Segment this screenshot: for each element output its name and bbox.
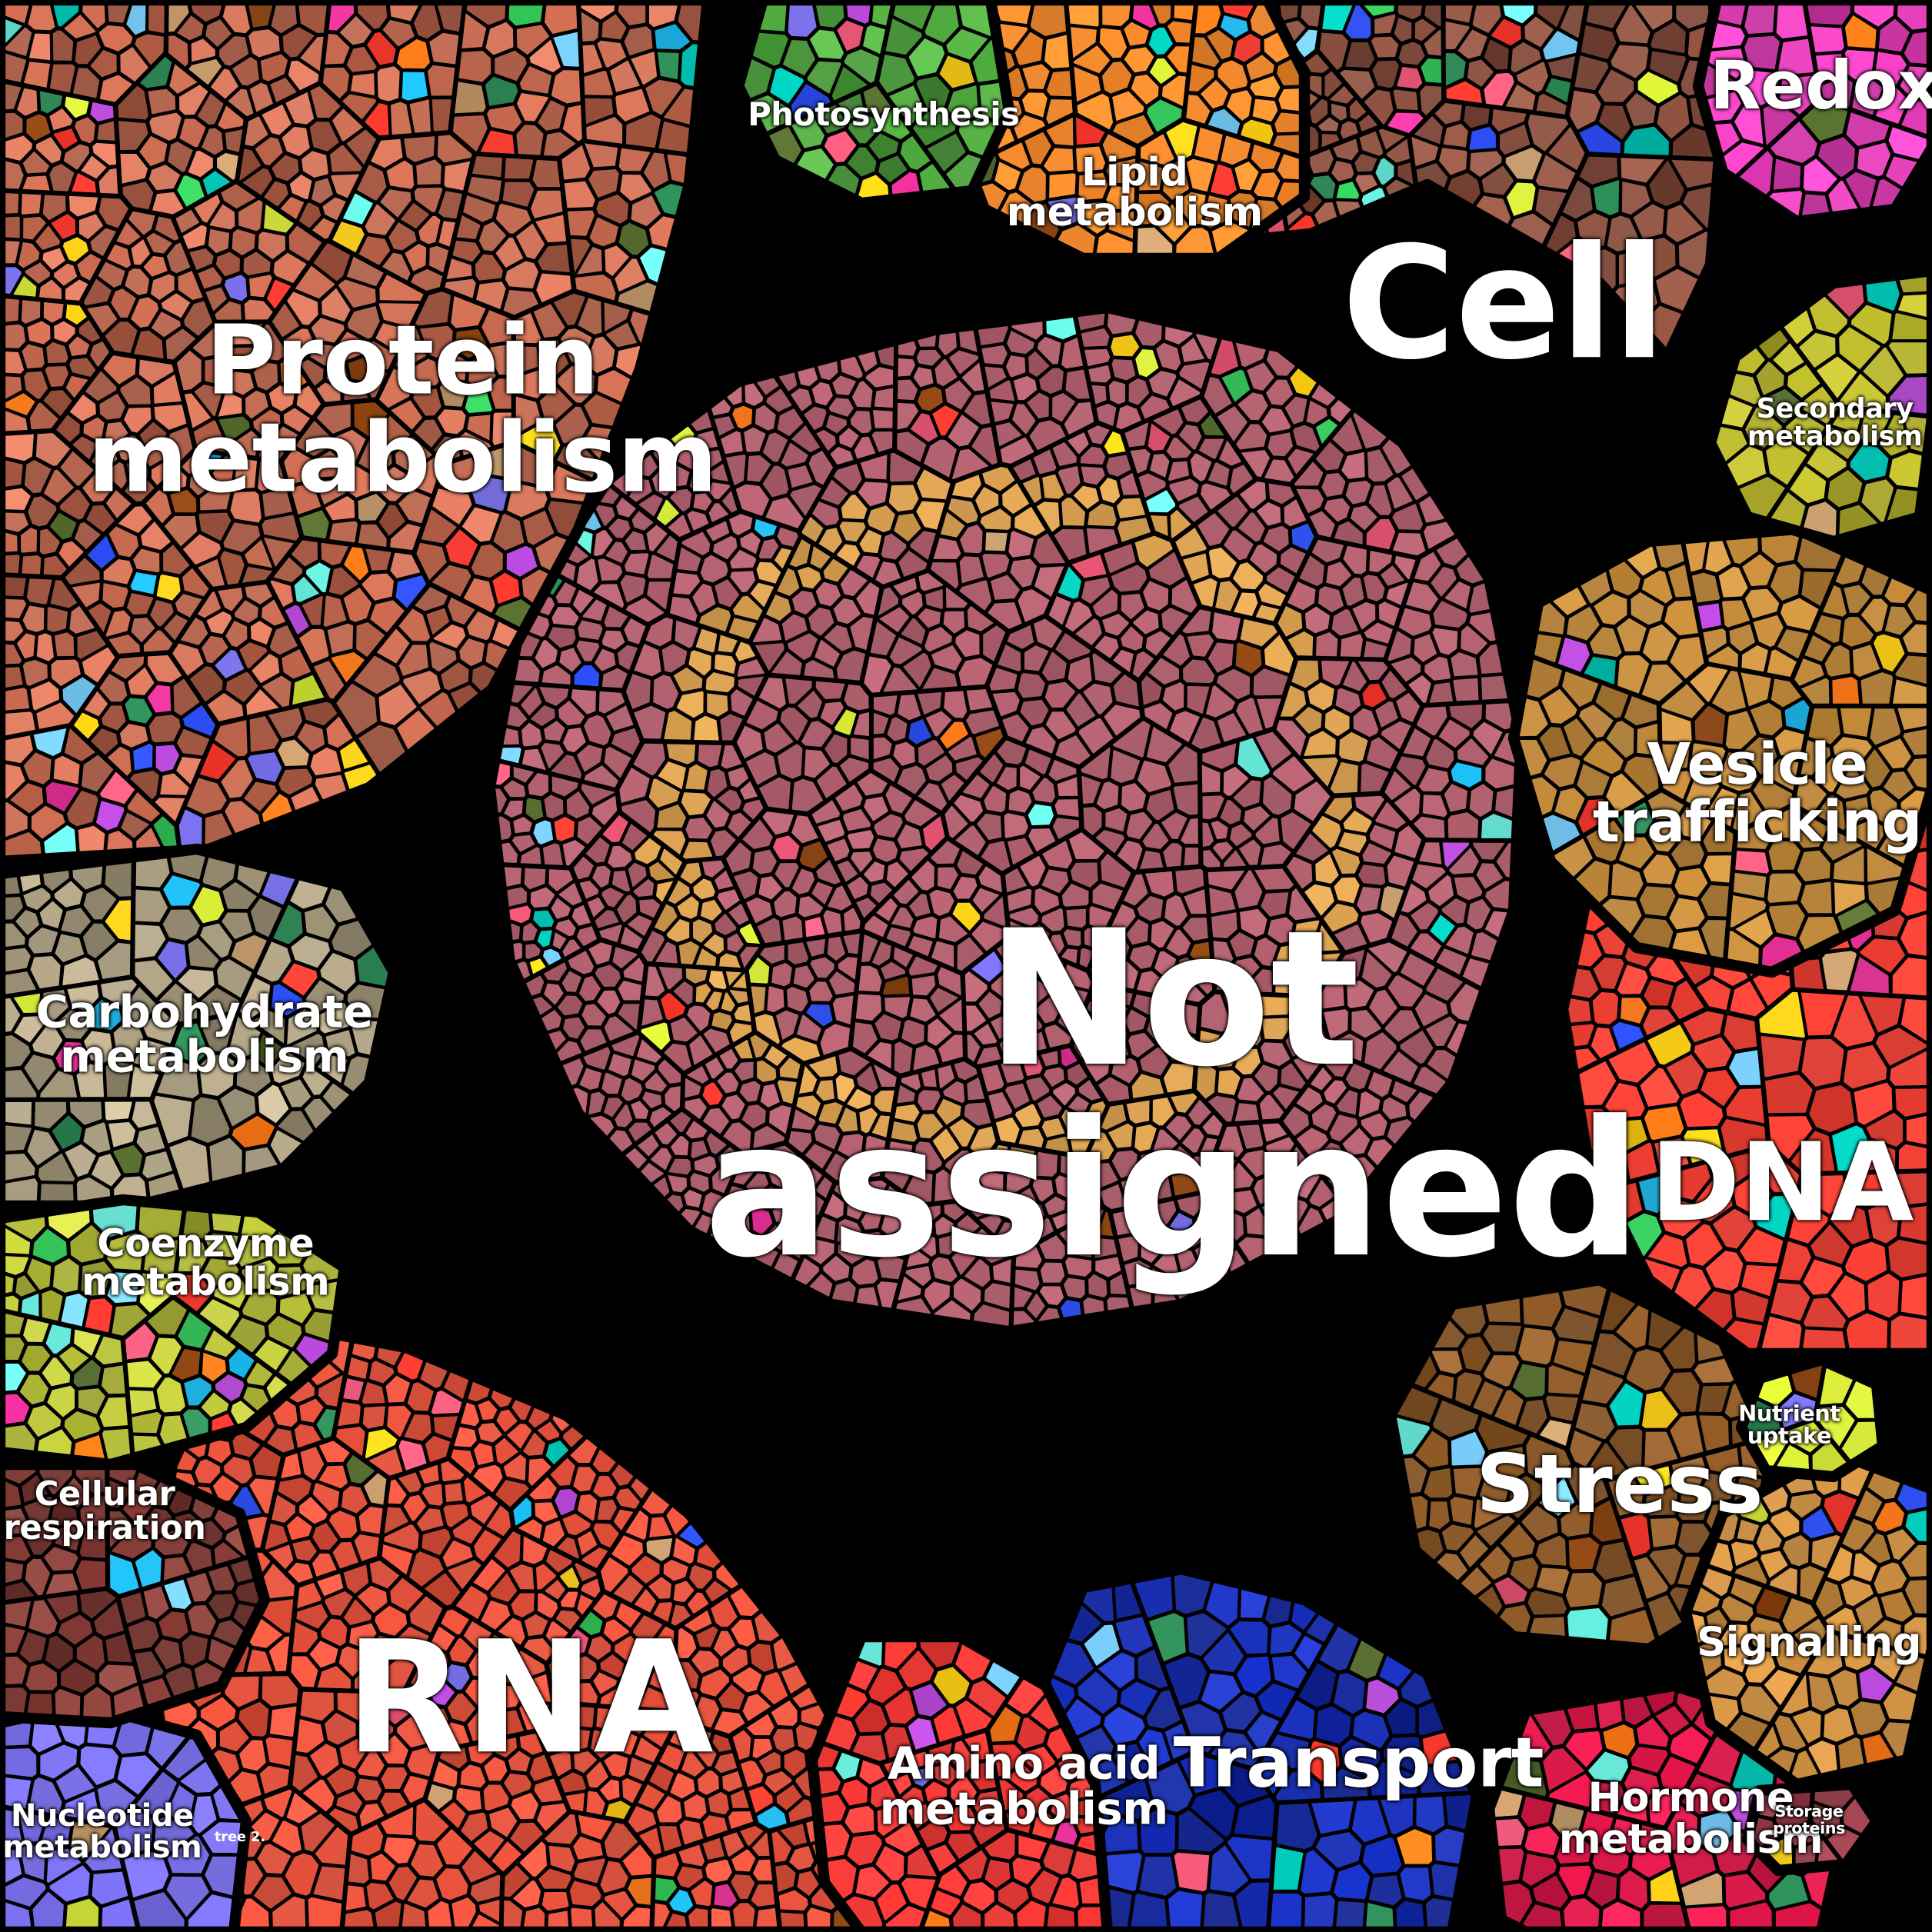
mosaic-tile (326, 622, 354, 655)
mosaic-tile (1758, 1034, 1804, 1079)
mosaic-tile (1399, 1867, 1432, 1901)
voronoi-treemap-figure: NotassignedProteinmetabolismRNACellDNASt… (0, 0, 1932, 1932)
mosaic-tile (871, 409, 893, 429)
mosaic-tile (1211, 611, 1242, 641)
mosaic-tile (1005, 355, 1027, 378)
mosaic-tile (1890, 1314, 1931, 1353)
mosaic-tile (1003, 812, 1029, 839)
mosaic-tile (348, 1853, 370, 1884)
mosaic-tile (1565, 1572, 1604, 1608)
mosaic-tile (350, 72, 376, 97)
mosaic-tile (224, 128, 243, 154)
mosaic-tile (1831, 676, 1860, 706)
mosaic-tile (265, 1736, 294, 1767)
mosaic-tile (148, 714, 182, 744)
mosaic-tile (54, 631, 75, 658)
mosaic-tile (551, 69, 581, 105)
mosaic-tile (657, 52, 681, 81)
mosaic-tile (376, 65, 401, 102)
mosaic-tile (531, 158, 561, 188)
mosaic-tile (1800, 881, 1833, 914)
mosaic-tile (1321, 472, 1347, 498)
mosaic-tile (473, 1442, 495, 1467)
mosaic-tile (872, 838, 899, 863)
mosaic-tile (1138, 1856, 1178, 1897)
mosaic-tile (46, 606, 68, 633)
mosaic-tile (981, 345, 1008, 366)
mosaic-tile (1690, 571, 1720, 604)
mosaic-tile (553, 816, 575, 843)
mosaic-tile (577, 619, 604, 641)
mosaic-tile (21, 343, 45, 370)
mosaic-tile (1315, 631, 1339, 659)
mosaic-tile (1105, 1852, 1144, 1893)
mosaic-tile (1054, 798, 1080, 818)
mosaic-tile (543, 794, 565, 820)
mosaic-tile (1468, 125, 1497, 151)
mosaic-tile (1447, 811, 1479, 839)
mosaic-tile (873, 387, 894, 409)
mosaic-tile (1357, 864, 1386, 886)
mosaic-tile (1395, 66, 1423, 90)
mosaic-tile (1397, 41, 1426, 66)
mosaic-tile (1104, 808, 1128, 833)
mosaic-tile (515, 124, 545, 156)
mosaic-tile (706, 692, 729, 718)
mosaic-tile (89, 101, 116, 122)
mosaic-tile (705, 1858, 733, 1884)
mosaic-tile (401, 71, 428, 102)
mosaic-tile (844, 1804, 875, 1834)
mosaic-tile (104, 1099, 134, 1121)
mosaic-tile (1, 431, 35, 461)
mosaic-tile (1800, 1038, 1845, 1088)
mosaic-tile (1367, 1874, 1403, 1907)
mosaic-tile (148, 1, 165, 34)
mosaic-tile (772, 1728, 796, 1754)
mosaic-tile (269, 1705, 298, 1738)
mosaic-tile (147, 88, 177, 115)
mosaic-tile (1767, 872, 1803, 904)
mosaic-tile (178, 808, 203, 850)
mosaic-tile (337, 1401, 362, 1427)
mosaic-tile (697, 742, 723, 768)
mosaic-tile (1268, 1892, 1303, 1931)
mosaic-tile (328, 520, 359, 544)
mosaic-tile (454, 81, 487, 115)
mosaic-tile (1442, 122, 1469, 148)
mosaic-tile (1392, 88, 1419, 112)
mosaic-tile (1468, 783, 1494, 818)
mosaic-tile (1331, 159, 1355, 182)
mosaic-tile (21, 555, 42, 577)
mosaic-tile (1173, 1851, 1210, 1892)
mosaic-tile (1449, 1496, 1474, 1527)
mosaic-tile (307, 1896, 344, 1931)
mosaic-tile (532, 819, 555, 845)
mosaic-tile (1, 1100, 32, 1126)
mosaic-tile (888, 484, 920, 513)
mosaic-tile (35, 632, 55, 662)
mosaic-tile (444, 1481, 464, 1503)
mosaic-tile (1129, 1893, 1168, 1931)
mosaic-tile (984, 531, 1008, 552)
mosaic-tile (1463, 105, 1491, 129)
mosaic-tile (1894, 1088, 1931, 1118)
mosaic-tile (361, 1405, 386, 1430)
mosaic-tile (1304, 1894, 1336, 1931)
mosaic-tile (693, 715, 720, 741)
mosaic-tile (345, 1884, 367, 1912)
mosaic-tile (1452, 677, 1480, 701)
mosaic-tile (1017, 672, 1046, 699)
mosaic-tile (1697, 602, 1722, 630)
mosaic-tile (1517, 1327, 1557, 1366)
mosaic-tile (1251, 98, 1279, 122)
mosaic-tile (617, 980, 642, 1001)
mosaic-tile (1108, 380, 1127, 406)
mosaic-tile (208, 228, 231, 254)
mosaic-tile (21, 193, 42, 215)
mosaic-tile (1115, 497, 1146, 519)
mosaic-tile (541, 1891, 570, 1912)
mosaic-tile (1168, 1890, 1204, 1931)
mosaic-tile (544, 1, 578, 35)
mosaic-tile (1111, 358, 1137, 381)
mosaic-tile (458, 50, 491, 83)
